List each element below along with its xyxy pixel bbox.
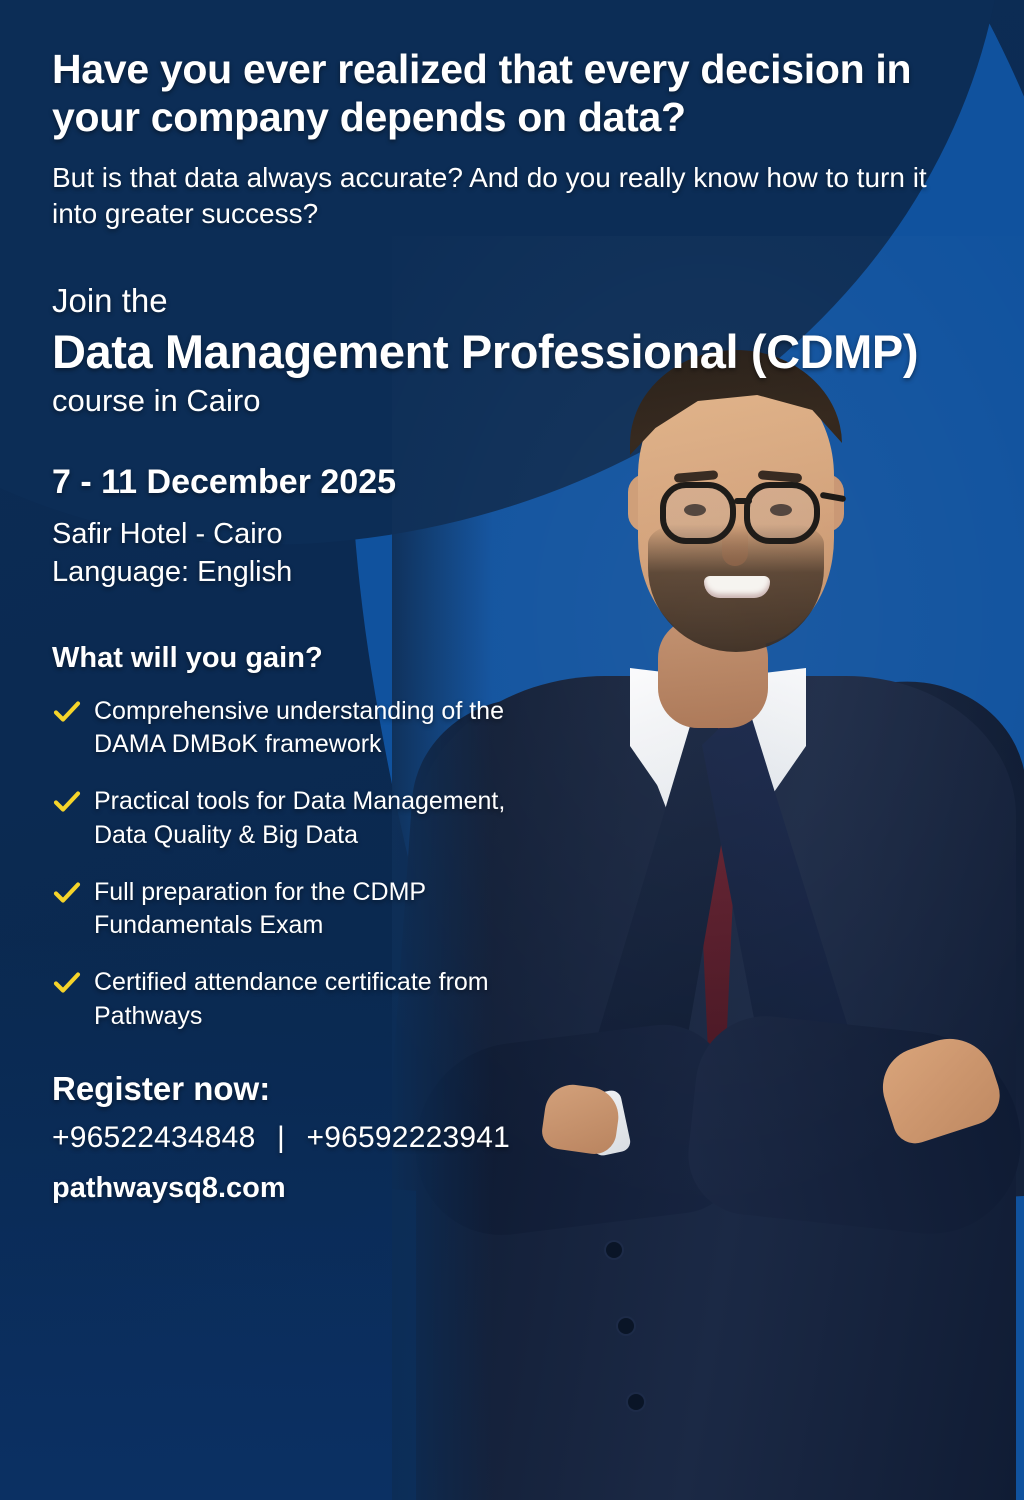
list-item: Certified attendance certificate from Pa… <box>52 966 972 1034</box>
checkmark-icon <box>52 787 82 817</box>
poster-content: Have you ever realized that every decisi… <box>0 0 1024 1500</box>
website-url[interactable]: pathwaysq8.com <box>52 1172 972 1205</box>
benefits-heading: What will you gain? <box>52 642 972 675</box>
subheadline: But is that data always accurate? And do… <box>52 160 942 233</box>
list-item: Comprehensive understanding of the DAMA … <box>52 695 972 763</box>
register-heading: Register now: <box>52 1070 972 1108</box>
join-label: Join the <box>52 283 972 319</box>
course-location-line: course in Cairo <box>52 383 972 419</box>
course-dates: 7 - 11 December 2025 <box>52 462 972 503</box>
benefit-text: Comprehensive understanding of the DAMA … <box>94 695 524 763</box>
course-venue: Safir Hotel - Cairo <box>52 515 972 553</box>
phone-separator: | <box>264 1121 298 1155</box>
benefit-text: Full preparation for the CDMP Fundamenta… <box>94 876 524 944</box>
checkmark-icon <box>52 968 82 998</box>
checkmark-icon <box>52 878 82 908</box>
course-language: Language: English <box>52 553 972 591</box>
phone-primary[interactable]: +96522434848 <box>52 1121 255 1154</box>
contact-phones: +96522434848 | +96592223941 <box>52 1121 972 1155</box>
checkmark-icon <box>52 697 82 727</box>
phone-secondary[interactable]: +96592223941 <box>307 1121 510 1154</box>
list-item: Practical tools for Data Management, Dat… <box>52 785 972 853</box>
list-item: Full preparation for the CDMP Fundamenta… <box>52 876 972 944</box>
course-title: Data Management Professional (CDMP) <box>52 325 972 379</box>
headline: Have you ever realized that every decisi… <box>52 46 972 142</box>
poster-canvas: Have you ever realized that every decisi… <box>0 0 1024 1500</box>
benefit-text: Certified attendance certificate from Pa… <box>94 966 524 1034</box>
benefits-list: Comprehensive understanding of the DAMA … <box>52 695 972 1034</box>
benefit-text: Practical tools for Data Management, Dat… <box>94 785 524 853</box>
